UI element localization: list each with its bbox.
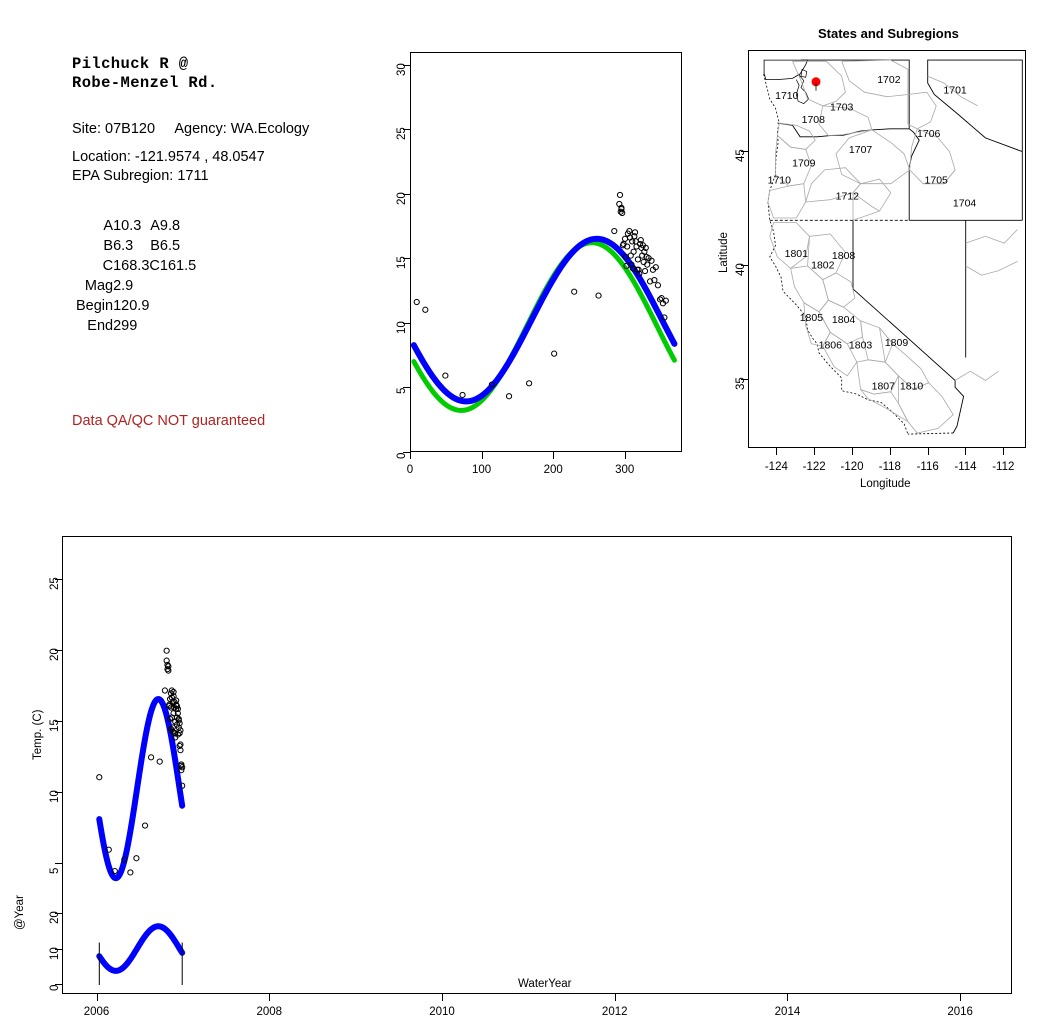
data-point [128, 870, 133, 875]
axis-tick [615, 994, 616, 1001]
axis-tick-label: 15 [396, 257, 408, 270]
subregion-label: 1806 [819, 339, 843, 351]
ts-yaxis-title: Temp. (C) [32, 710, 44, 760]
axis-tick-label: 2010 [429, 1006, 455, 1018]
data-point [645, 262, 650, 267]
axis-tick-label: 10 [396, 321, 408, 334]
ts-sub-yaxis-title: @Year [14, 895, 26, 930]
axis-tick-label: 2006 [84, 1006, 110, 1018]
axis-tick [960, 994, 961, 1001]
subregion-label: 1710 [768, 175, 792, 187]
data-point [157, 759, 162, 764]
map-boundary [908, 92, 936, 129]
timeseries-plot-area [62, 536, 1012, 994]
axis-tick [852, 448, 853, 455]
axis-tick-label: 20 [49, 648, 61, 661]
stat-value: 120.9 [113, 296, 149, 316]
seasonal-plot-svg [411, 53, 683, 453]
axis-tick [1003, 448, 1004, 455]
data-point [612, 228, 617, 233]
data-point [641, 259, 646, 264]
subregion-label: 1705 [925, 175, 949, 187]
data-point [631, 249, 636, 254]
epa-subregion-line: EPA Subregion: 1711 [72, 166, 209, 186]
data-point [142, 823, 147, 828]
data-point [596, 293, 601, 298]
map-boundary [908, 433, 953, 434]
stat-value: 2.9 [113, 276, 149, 296]
axis-tick-label: -118 [879, 461, 901, 473]
subregion-label: 1701 [943, 84, 967, 96]
axis-tick [482, 452, 483, 459]
axis-tick-label: 300 [615, 464, 634, 476]
seasonal-plot-panel: 0510152025300100200300 [370, 40, 700, 480]
stat-value-2: 6.5 [160, 236, 196, 256]
map-boundary [966, 261, 1018, 275]
fitted-curve [99, 699, 182, 878]
subregion-label: 1709 [792, 158, 816, 170]
site-title-line2: Robe-Menzel Rd. [72, 74, 218, 93]
axis-tick [776, 448, 777, 455]
data-point [148, 755, 153, 760]
map-plot-area: 1701170217031704170517061707170817091710… [748, 50, 1026, 448]
data-point [635, 257, 640, 262]
axis-tick-label: 20 [49, 911, 61, 924]
axis-tick [97, 994, 98, 1001]
table-row: C 168.3 C 161.5 [76, 256, 196, 276]
axis-tick-label: -114 [954, 461, 976, 473]
data-point [622, 236, 627, 241]
stat-value: 6.3 [113, 236, 149, 256]
axis-tick [553, 452, 554, 459]
axis-tick [442, 994, 443, 1001]
map-boundary [966, 229, 1018, 243]
timeseries-svg [63, 537, 1013, 995]
site-title-line1: Pilchuck R @ [72, 55, 218, 74]
axis-tick-label: 10 [49, 947, 61, 960]
axis-tick [625, 452, 626, 459]
axis-tick-label: 45 [735, 149, 747, 162]
map-xaxis-title: Longitude [860, 478, 911, 490]
stat-value-2: 9.8 [160, 216, 196, 236]
axis-tick-label: 0 [407, 464, 413, 476]
qa-qc-warning: Data QA/QC NOT guaranteed [72, 413, 265, 429]
subregion-label: 1704 [953, 198, 977, 210]
data-point [423, 307, 428, 312]
data-point [162, 688, 167, 693]
site-agency-line: Site: 07B120 Agency: WA.Ecology [72, 119, 309, 139]
axis-tick [928, 448, 929, 455]
map-boundary [853, 220, 964, 433]
axis-tick-label: 20 [396, 192, 408, 205]
data-point [642, 268, 647, 273]
axis-tick-label: 5 [396, 388, 408, 394]
axis-tick-label: 35 [735, 378, 747, 391]
table-row: B 6.3 B 6.5 [76, 236, 196, 256]
stat-label: End [76, 316, 113, 336]
subregion-label: 1805 [800, 312, 824, 324]
ts-xaxis-title: WaterYear [518, 978, 571, 990]
stat-label: Mag [76, 276, 113, 296]
map-boundary [768, 184, 806, 218]
subregion-label: 1808 [832, 250, 856, 262]
axis-tick [787, 994, 788, 1001]
axis-tick-label: 15 [49, 719, 61, 732]
data-point [617, 192, 622, 197]
axis-tick-label: 100 [472, 464, 491, 476]
axis-tick-label: 2016 [947, 1006, 973, 1018]
map-boundary [801, 69, 807, 77]
site-info-panel: Pilchuck R @ Robe-Menzel Rd. Site: 07B12… [0, 0, 370, 500]
data-point [97, 775, 102, 780]
axis-tick-label: 2008 [256, 1006, 282, 1018]
data-point [134, 856, 139, 861]
data-point [414, 299, 419, 304]
data-point [506, 394, 511, 399]
axis-tick-label: 40 [735, 263, 747, 276]
axis-tick-label: -120 [840, 461, 863, 473]
table-row: End 299 [76, 316, 196, 336]
data-point [164, 648, 169, 653]
map-yaxis-title: Latitude [718, 232, 730, 273]
subregion-label: 1803 [849, 339, 873, 351]
axis-tick-label: 2012 [602, 1006, 628, 1018]
subregion-label: 1708 [802, 114, 826, 126]
axis-tick-label: 5 [49, 868, 61, 874]
axis-tick [55, 863, 62, 864]
axis-tick-label: 200 [544, 464, 563, 476]
table-row: Begin 120.9 [76, 296, 196, 316]
subregion-label: 1706 [917, 128, 941, 140]
stat-label: C [76, 256, 113, 276]
subregion-label: 1703 [830, 102, 854, 114]
data-point [552, 351, 557, 356]
axis-tick-label: -122 [803, 461, 826, 473]
seasonal-plot-area [410, 52, 682, 452]
axis-tick [814, 448, 815, 455]
stat-label: Begin [76, 296, 113, 316]
map-boundary [823, 273, 855, 307]
axis-tick-label: 10 [49, 790, 61, 803]
stat-label: A [76, 216, 113, 236]
stat-label-2: C [149, 256, 159, 276]
subregion-label: 1710 [775, 90, 799, 102]
map-boundary [764, 60, 808, 80]
stat-value: 168.3 [113, 256, 149, 276]
axis-tick-label: -124 [765, 461, 788, 473]
map-boundary [777, 123, 815, 149]
data-point [460, 392, 465, 397]
axis-tick-label: 25 [49, 577, 61, 590]
axis-tick-label: 25 [396, 128, 408, 141]
map-title: States and Subregions [818, 26, 959, 41]
data-point [527, 381, 532, 386]
subregion-label: 1807 [872, 381, 896, 393]
axis-tick-label: 30 [396, 63, 408, 76]
data-point [572, 289, 577, 294]
axis-tick-label: -116 [917, 461, 939, 473]
map-boundary [836, 130, 910, 184]
axis-tick [269, 994, 270, 1001]
stat-label: B [76, 236, 113, 256]
subregion-label: 1702 [877, 74, 901, 86]
axis-tick-label: 2014 [775, 1006, 801, 1018]
subregion-label: 1804 [832, 314, 856, 326]
table-row: A 10.3 A 9.8 [76, 216, 196, 236]
annual-fitted-curve [99, 926, 182, 971]
map-svg: 1701170217031704170517061707170817091710… [749, 51, 1027, 449]
site-title: Pilchuck R @ Robe-Menzel Rd. [72, 55, 218, 93]
subregion-label: 1707 [849, 144, 873, 156]
axis-tick-label: -112 [992, 461, 1014, 473]
axis-tick [965, 448, 966, 455]
axis-tick-label: 0 [396, 453, 408, 459]
axis-tick [410, 452, 411, 459]
timeseries-panel: 20062008201020122014201651015202501020 W… [0, 510, 1038, 1001]
stat-label-2: A [149, 216, 159, 236]
data-point [443, 373, 448, 378]
subregion-label: 1801 [785, 248, 809, 260]
map-panel: States and Subregions 170117021703170417… [700, 8, 1038, 508]
stat-value: 10.3 [113, 216, 149, 236]
axis-tick-label: 0 [49, 985, 61, 991]
stat-label-2: B [149, 236, 159, 256]
data-point [655, 283, 660, 288]
subregion-label: 1809 [885, 337, 909, 349]
subregion-label: 1712 [836, 191, 860, 203]
subregion-label: 1810 [900, 381, 924, 393]
location-line: Location: -121.9574 , 48.0547 [72, 147, 265, 167]
data-point [634, 244, 639, 249]
model-stats-table: A 10.3 A 9.8 B 6.3 B 6.5 C 168.3 C 161.5… [76, 216, 196, 336]
axis-tick [890, 448, 891, 455]
map-boundary [955, 371, 999, 380]
map-boundary [928, 60, 1023, 220]
table-row: Mag 2.9 [76, 276, 196, 296]
stat-value-2: 161.5 [160, 256, 196, 276]
stat-value: 299 [113, 316, 149, 336]
